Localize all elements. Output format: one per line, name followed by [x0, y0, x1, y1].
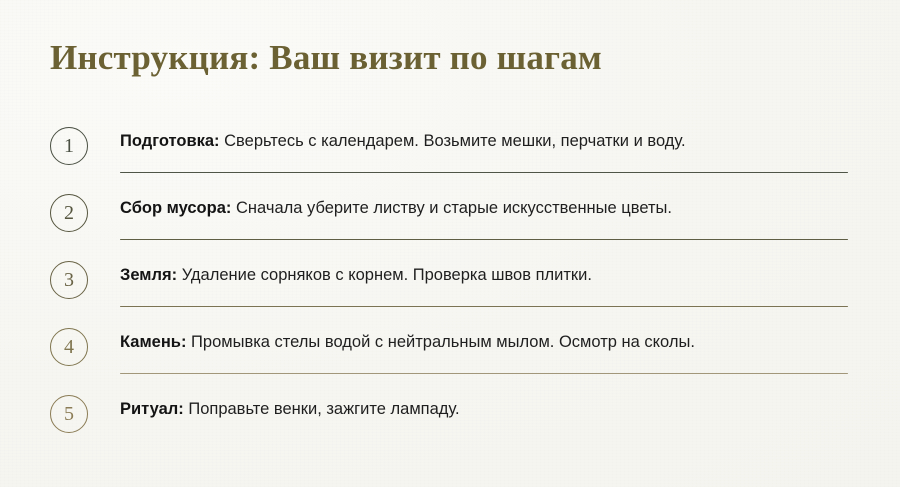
list-item: 1 Подготовка: Сверьтесь с календарем. Во…	[0, 118, 900, 185]
steps-list: 1 Подготовка: Сверьтесь с календарем. Во…	[0, 118, 900, 453]
divider	[120, 172, 848, 173]
step-label: Земля:	[120, 266, 177, 284]
step-label: Ритуал:	[120, 400, 184, 418]
step-description: Удаление сорняков с корнем. Проверка шво…	[182, 266, 592, 284]
divider	[120, 373, 848, 374]
step-number-badge: 1	[50, 127, 88, 165]
step-number: 1	[64, 136, 74, 156]
step-label: Камень:	[120, 333, 186, 351]
step-text: Подготовка: Сверьтесь с календарем. Возь…	[120, 131, 860, 152]
step-text: Камень: Промывка стелы водой с нейтральн…	[120, 332, 860, 353]
list-item: 3 Земля: Удаление сорняков с корнем. Про…	[0, 252, 900, 319]
step-text: Ритуал: Поправьте венки, зажгите лампаду…	[120, 399, 860, 420]
list-item: 2 Сбор мусора: Сначала уберите листву и …	[0, 185, 900, 252]
divider	[120, 239, 848, 240]
step-text: Сбор мусора: Сначала уберите листву и ст…	[120, 198, 860, 219]
step-number: 4	[64, 337, 74, 357]
step-number-badge: 2	[50, 194, 88, 232]
step-number-badge: 5	[50, 395, 88, 433]
step-label: Сбор мусора:	[120, 199, 231, 217]
step-text: Земля: Удаление сорняков с корнем. Прове…	[120, 265, 860, 286]
step-description: Сверьтесь с календарем. Возьмите мешки, …	[224, 132, 685, 150]
step-number-badge: 3	[50, 261, 88, 299]
instruction-card: Инструкция: Ваш визит по шагам 1 Подгото…	[0, 0, 900, 487]
step-number: 2	[64, 203, 74, 223]
step-number: 5	[64, 404, 74, 424]
step-description: Сначала уберите листву и старые искусств…	[236, 199, 672, 217]
list-item: 4 Камень: Промывка стелы водой с нейтрал…	[0, 319, 900, 386]
step-number: 3	[64, 270, 74, 290]
step-description: Промывка стелы водой с нейтральным мылом…	[191, 333, 695, 351]
step-label: Подготовка:	[120, 132, 220, 150]
list-item: 5 Ритуал: Поправьте венки, зажгите лампа…	[0, 386, 900, 453]
step-number-badge: 4	[50, 328, 88, 366]
divider	[120, 306, 848, 307]
step-description: Поправьте венки, зажгите лампаду.	[188, 400, 459, 418]
page-title: Инструкция: Ваш визит по шагам	[50, 38, 602, 78]
